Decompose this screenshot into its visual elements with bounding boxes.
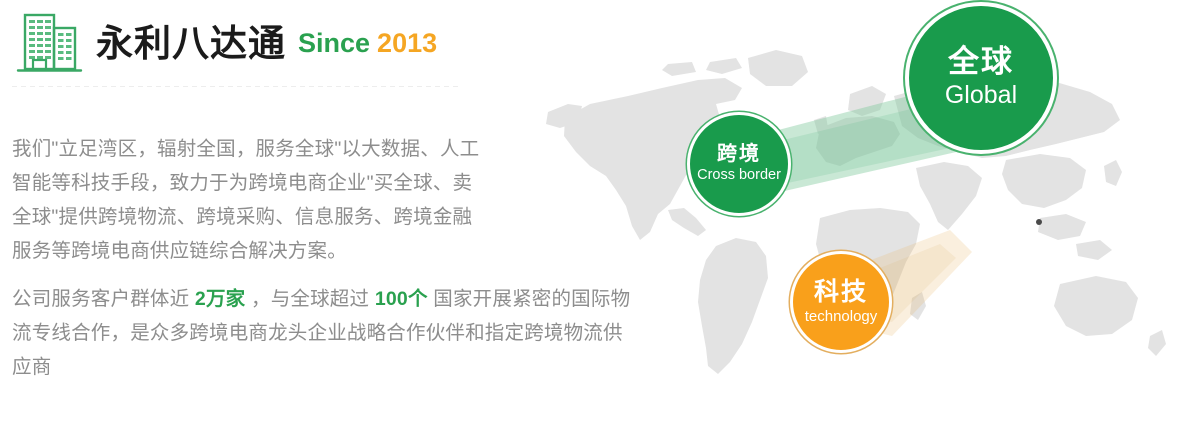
bubble-global[interactable]: 全球 Global — [905, 2, 1057, 154]
bubble-global-cn: 全球 — [948, 46, 1014, 79]
bubble-cross-border-en: Cross border — [697, 167, 781, 184]
bubble-technology-cn: 科技 — [814, 279, 868, 305]
bubble-technology-en: technology — [805, 308, 878, 325]
bubble-cross-border[interactable]: 跨境 Cross border — [687, 112, 791, 216]
since-label: Since — [298, 30, 370, 57]
page-root: 永利八达通 Since 2013 我们"立足湾区，辐射全国，服务全球"以大数据、… — [0, 0, 1182, 421]
world-map-background — [520, 0, 1182, 421]
header-divider — [12, 86, 462, 87]
brand-header: 永利八达通 Since 2013 — [12, 10, 437, 76]
world-map-panel: 全球 Global 跨境 Cross border 科技 technology — [520, 0, 1182, 421]
p2-highlight-countries: 100个 — [375, 288, 428, 310]
bubble-technology[interactable]: 科技 technology — [790, 251, 892, 353]
page-title: 永利八达通 — [96, 25, 286, 62]
since-year: 2013 — [377, 30, 437, 57]
p2-text-2: ，与全球超过 — [245, 288, 374, 310]
p2-highlight-customers: 2万家 — [195, 288, 245, 310]
p2-text-1: 公司服务客户群体近 — [12, 288, 195, 310]
intro-paragraph-1: 我们"立足湾区，辐射全国，服务全球"以大数据、人工智能等科技手段，致力于为跨境电… — [12, 132, 490, 268]
map-marker-dot — [1036, 219, 1042, 225]
bubble-global-en: Global — [945, 81, 1017, 110]
office-building-icon — [12, 10, 84, 76]
bubble-cross-border-cn: 跨境 — [717, 144, 761, 165]
